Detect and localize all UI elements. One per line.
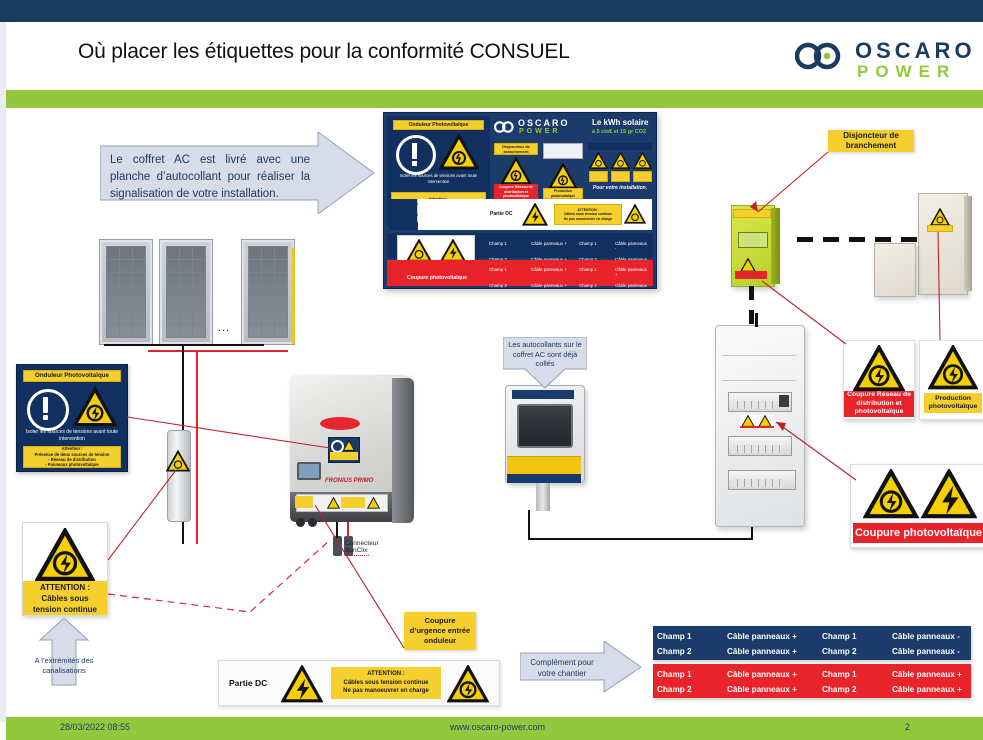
attention-dc-l3: tension continue xyxy=(33,604,97,615)
callout-coffret-ac-text: Le coffret AC est livré avec une planche… xyxy=(110,152,310,203)
partie-dc-attention-title: ATTENTION : xyxy=(367,670,405,679)
sunclix-connector xyxy=(333,536,342,556)
callout-autocollants: Les autocollants sur le coffret AC sont … xyxy=(503,337,587,389)
solar-panel xyxy=(160,240,212,344)
ac-box-to-breaker-wire-h xyxy=(528,538,753,540)
breaker-row xyxy=(728,392,792,412)
label-production: Production photovoltaïque xyxy=(924,393,982,413)
sticker-dc-attention-l2: Ne pas manoeuvrer en charge xyxy=(564,217,612,222)
label-coupure-reseau-card: Coupure Réseau de distribution et photov… xyxy=(843,340,915,420)
pv-warning-triangle-icon xyxy=(73,387,117,432)
champ-cell: Champ 1 xyxy=(575,238,611,254)
sticker-disjoncteur-label: Disjoncteur de branchement xyxy=(494,143,538,155)
inverter-model-text: FRONIUS PRIMO xyxy=(325,478,373,484)
sticker-mini-3 xyxy=(633,171,652,182)
connector-wire xyxy=(336,522,338,538)
champ-cell: Champ 1 xyxy=(818,667,888,682)
champ-table-blue: Champ 1 Câble panneaux + Champ 1 Câble p… xyxy=(653,626,971,660)
label-disjoncteur-branchement: Disjoncteur de branchement xyxy=(828,130,914,152)
sticker-header: OSCARO POWER Le kWh solaire à 5 cts€ et … xyxy=(494,118,652,140)
champ-cell: Champ 1 xyxy=(485,264,527,280)
left-sticker-note-l3: - Panneaux photovoltaïque xyxy=(45,462,99,467)
pv-warning-triangle-icon xyxy=(447,665,489,708)
sticker-partie-dc: Partie DC xyxy=(490,211,513,217)
label-coupure-reseau: Coupure Réseau de distribution et photov… xyxy=(844,391,914,417)
coupure-urgence-l3: onduleur xyxy=(424,636,456,646)
partie-dc-attention-l1: Câbles sous tension continue xyxy=(343,679,428,688)
champ-cell: Câble panneaux - xyxy=(888,629,971,644)
pv-warning-triangle-icon xyxy=(928,345,978,395)
logo-text-power: POWER xyxy=(857,62,956,82)
inverter-wheel xyxy=(296,518,305,527)
champ-cell: Câble panneaux + xyxy=(723,629,818,644)
grid-cabinet-small xyxy=(874,243,916,297)
meter-side xyxy=(771,208,780,284)
champ-cell: Câble panneaux - xyxy=(611,238,651,254)
sticker-triple-block: Pour votre installation. xyxy=(588,143,652,195)
champ-table-red: Champ 1 Câble panneaux + Champ 1 Câble p… xyxy=(653,664,971,698)
ac-box-conduit xyxy=(536,483,550,511)
exclamation-icon xyxy=(396,135,436,175)
coupure-urgence-l2: d’urgence entrée xyxy=(410,626,470,636)
pv-warning-triangle-icon xyxy=(863,469,919,524)
grid-connection-dashed xyxy=(797,237,937,242)
sticker-pour-votre: Pour votre installation. xyxy=(588,185,652,191)
champ-cell: Câble panneaux - xyxy=(888,644,971,659)
breaker-row xyxy=(728,470,796,490)
sticker-coupure-pv-text: Coupure photovoltaïque xyxy=(397,275,477,281)
callout-extremites-text: A l’extrémités des canalisations xyxy=(20,656,108,676)
partie-dc-strip: Partie DC ATTENTION : Câbles sous tensio… xyxy=(218,660,500,706)
partie-dc-text: Partie DC xyxy=(229,678,267,688)
attention-dc-label: ATTENTION : Câbles sous tension continue xyxy=(23,581,107,615)
sticker-mini-2 xyxy=(611,171,630,182)
callout-autocollants-text: Les autocollants sur le coffret AC sont … xyxy=(506,340,584,369)
sticker-left-title: Onduleur Photovoltaïque xyxy=(393,120,484,130)
pv-warning-triangle-icon xyxy=(439,134,479,175)
electric-bolt-triangle-icon xyxy=(921,469,977,524)
footer-url[interactable]: www.oscaro-power.com xyxy=(450,722,545,732)
page-title: Où placer les étiquettes pour la conform… xyxy=(78,40,698,64)
sticker-dc-mini-cards xyxy=(389,199,417,230)
oscaro-infinity-logo-icon xyxy=(795,42,841,70)
brand-logo: OSCARO POWER xyxy=(795,38,975,86)
champ-cell: Câble panneaux + xyxy=(611,280,651,289)
champ-cell: Câble panneaux + xyxy=(527,280,575,289)
grid-cabinet-side xyxy=(964,196,972,291)
sticker-production-label: Production photovoltaïque xyxy=(543,188,583,199)
sticker-disjoncteur-block: Disjoncteur de branchement Coupure Résea… xyxy=(494,143,538,195)
champ-cell: Champ 2 xyxy=(818,682,888,697)
panels-ellipsis: ... xyxy=(212,324,236,333)
panel-wire-down-red xyxy=(196,350,198,544)
cabinet-sticker-label xyxy=(927,225,953,232)
label-coupure-pv-card: Coupure photovoltaïque xyxy=(850,464,983,548)
ac-box-top-label xyxy=(512,390,574,399)
left-sticker-body: Isoler les sources de tensions avant tou… xyxy=(21,429,123,443)
callout-complement: Complément pour votre chantier xyxy=(520,641,642,693)
champ-cell: Câble panneaux + xyxy=(527,238,575,254)
electric-bolt-triangle-icon xyxy=(281,665,323,708)
inverter-bottom-stickers xyxy=(296,494,388,512)
ac-box-bottom-band xyxy=(507,456,581,475)
sticker-brand-bottom: POWER xyxy=(519,128,560,135)
sticker-dc-attention: ATTENTION : Câbles sous tension continue… xyxy=(554,204,622,225)
inverter-wheel xyxy=(308,518,317,527)
inverter-label-sticker xyxy=(328,437,360,463)
board-top-wire xyxy=(755,313,758,327)
breaker-row xyxy=(728,436,792,456)
electric-bolt-triangle-icon xyxy=(522,203,548,231)
sticker-left-body: Isoler les sources de tensions avant tou… xyxy=(391,173,486,185)
footer-date: 28/03/2022 08:55 xyxy=(60,722,130,732)
inverter-display xyxy=(297,462,321,480)
champ-cell: Champ 1 xyxy=(485,238,527,254)
ac-box-blue-band xyxy=(507,474,581,483)
sticker-dc-strip: Partie DC ATTENTION : Câbles sous tensio… xyxy=(418,199,652,230)
connector-label-l2: SunClix xyxy=(345,547,395,554)
window-top-bar xyxy=(0,0,983,22)
left-sticker-onduleur: Onduleur Photovoltaïque Isoler les sourc… xyxy=(16,364,128,472)
ac-box-screen xyxy=(517,404,573,448)
partie-dc-attention-l2: Ne pas manoeuvrer en charge xyxy=(343,687,429,696)
conduit-warning-sticker xyxy=(166,450,190,477)
attention-dc-l1: ATTENTION : xyxy=(40,582,90,593)
sticker-red-table: Coupure photovoltaïque Champ 1Câble pann… xyxy=(387,260,653,286)
callout-complement-text: Complément pour votre chantier xyxy=(524,657,600,679)
sticker-production-top-note xyxy=(543,143,583,159)
meter-disjoncteur-sticker xyxy=(733,209,771,218)
connector-wire-red xyxy=(347,522,349,538)
inverter-side-shadow xyxy=(392,378,414,523)
solar-panel xyxy=(100,240,152,344)
sticker-coupure-reseau-label: Coupure Réseau de distribution et photov… xyxy=(494,184,538,200)
champ-cell: Câble panneaux + xyxy=(888,682,971,697)
champ-cell: Champ 2 xyxy=(485,280,527,289)
logo-text-oscaro: OSCARO xyxy=(855,38,976,64)
sticker-tagline-2: à 5 cts€ et 15 gr CO2 xyxy=(592,129,646,135)
pv-warning-triangle-icon xyxy=(853,345,905,397)
pv-warning-triangle-icon xyxy=(624,204,646,229)
champ-cell: Champ 1 xyxy=(575,264,611,280)
solar-panel xyxy=(242,240,294,344)
sticker-brand-top: OSCARO xyxy=(518,118,570,128)
panel-wire-positive xyxy=(148,350,288,352)
meter-red-sticker xyxy=(735,271,767,279)
left-sticker-title: Onduleur Photovoltaïque xyxy=(23,370,121,382)
coupure-urgence-label: Coupure d’urgence entrée onduleur xyxy=(404,612,476,650)
pv-warning-triangle-icon xyxy=(35,528,95,587)
sticker-production-block: Production photovoltaïque xyxy=(543,143,583,195)
champ-cell: Champ 1 xyxy=(653,667,723,682)
footer-page-number: 2 xyxy=(905,722,910,732)
champ-cell: Champ 2 xyxy=(653,682,723,697)
attention-dc-sticker: ATTENTION : Câbles sous tension continue xyxy=(22,522,108,616)
label-production-card: Production photovoltaïque xyxy=(919,340,983,420)
meter-display xyxy=(738,232,768,248)
panel-wire-negative xyxy=(104,344,264,346)
champ-cell: Câble panneaux + xyxy=(723,682,818,697)
sticker-tagline-1: Le kWh solaire xyxy=(592,118,648,127)
slide-root: Où placer les étiquettes pour la conform… xyxy=(0,0,983,740)
champ-cell: Champ 2 xyxy=(653,644,723,659)
champ-cell: Champ 1 xyxy=(653,629,723,644)
fronius-logo xyxy=(320,417,360,430)
left-sticker-note: Attention : Présence de deux sources de … xyxy=(23,446,121,468)
sticker-mini-1 xyxy=(589,171,608,182)
label-disjoncteur-l1: Disjoncteur de branchement xyxy=(828,131,914,151)
label-coupure-pv: Coupure photovoltaïque xyxy=(853,523,983,543)
champ-cell: Câble panneaux + xyxy=(723,644,818,659)
board-top-divider xyxy=(722,380,796,381)
connector-label-l1: Connecteur xyxy=(345,540,395,547)
champ-cell: Champ 1 xyxy=(818,629,888,644)
green-divider-band xyxy=(6,90,983,108)
callout-coffret-ac: Le coffret AC est livré avec une planche… xyxy=(100,132,375,214)
board-top-divider xyxy=(722,355,796,356)
sticker-blue-table: Champ 1Câble panneaux +Champ 1Câble pann… xyxy=(387,233,653,258)
board-pv-stickers xyxy=(740,415,774,428)
coupure-urgence-l1: Coupure xyxy=(425,616,456,626)
attention-dc-l2: Câbles sous xyxy=(41,593,88,604)
champ-cell: Champ 2 xyxy=(818,644,888,659)
champ-cell: Câble panneaux + xyxy=(723,667,818,682)
meter-conduit-dashed xyxy=(749,286,754,324)
connector-label: Connecteur SunClix xyxy=(345,540,395,557)
champ-cell: Champ 2 xyxy=(575,280,611,289)
panel-string-marker-yellow xyxy=(292,248,295,344)
champ-cell: Câble panneaux + xyxy=(611,264,651,280)
sticker-sheet: Onduleur Photovoltaïque Isoler les sourc… xyxy=(383,112,657,289)
exclamation-icon xyxy=(27,389,69,431)
champ-cell: Câble panneaux + xyxy=(527,264,575,280)
callout-extremites: A l’extrémités des canalisations xyxy=(18,618,110,686)
champ-cell: Câble panneaux + xyxy=(888,667,971,682)
ac-box-to-breaker-wire-v xyxy=(528,510,530,540)
partie-dc-attention-label: ATTENTION : Câbles sous tension continue… xyxy=(331,667,441,699)
